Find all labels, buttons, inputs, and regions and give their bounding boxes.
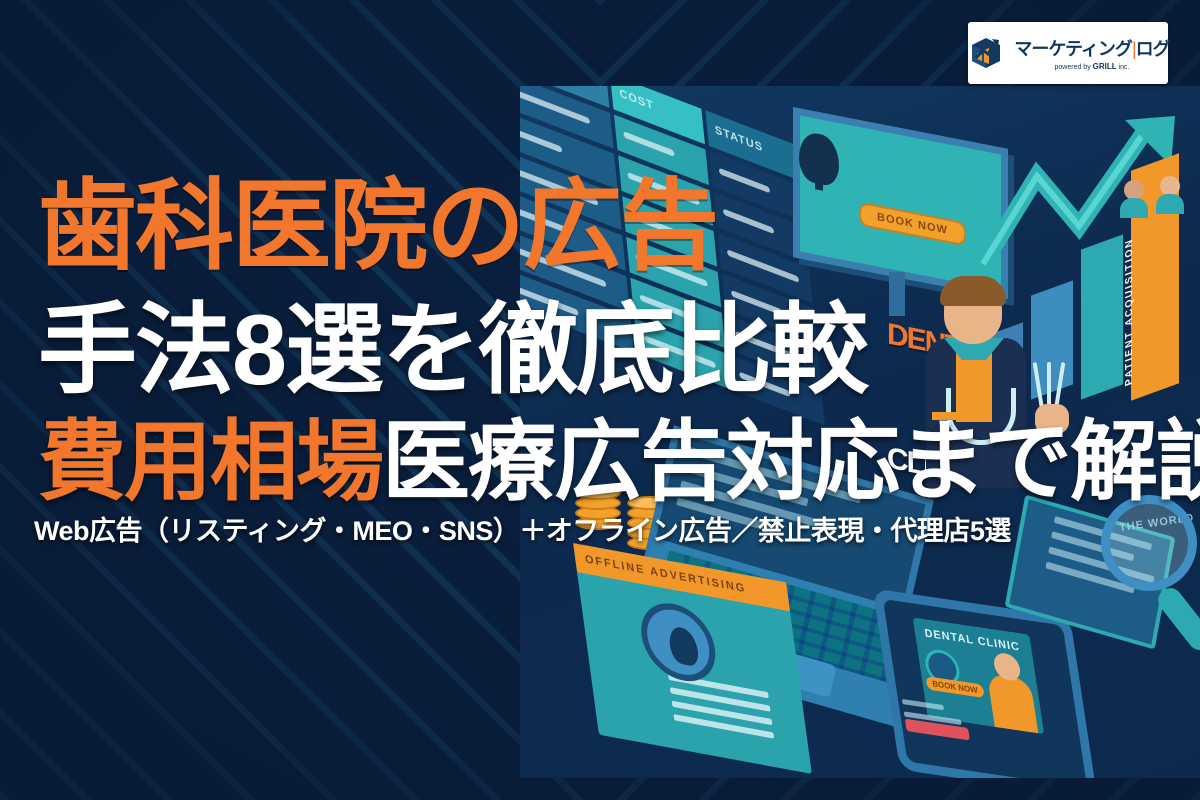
illustration-panel: ADVERTISING COST STATUS xyxy=(520,86,1200,778)
logo-powered-by: powered by GRILL inc. xyxy=(1055,62,1130,71)
logo-brand-name: マーケティング|ログ xyxy=(1014,35,1169,61)
thumbnail-canvas: ADVERTISING COST STATUS xyxy=(0,0,1200,800)
chart-bar xyxy=(1081,234,1123,399)
site-logo[interactable]: マーケティング|ログ powered by GRILL inc. xyxy=(968,22,1168,84)
tooth-icon xyxy=(636,597,720,687)
logo-text: マーケティング|ログ powered by GRILL inc. xyxy=(1014,35,1169,71)
magnifier-checklist-illustration: THE WORLD xyxy=(1015,491,1200,691)
growth-arrow-cube-logo-icon xyxy=(966,33,1006,73)
magnifier-handle xyxy=(1153,583,1200,655)
people-figures xyxy=(1122,176,1188,222)
magnifier-lens-icon xyxy=(1101,495,1197,591)
billboard-post xyxy=(889,272,905,316)
